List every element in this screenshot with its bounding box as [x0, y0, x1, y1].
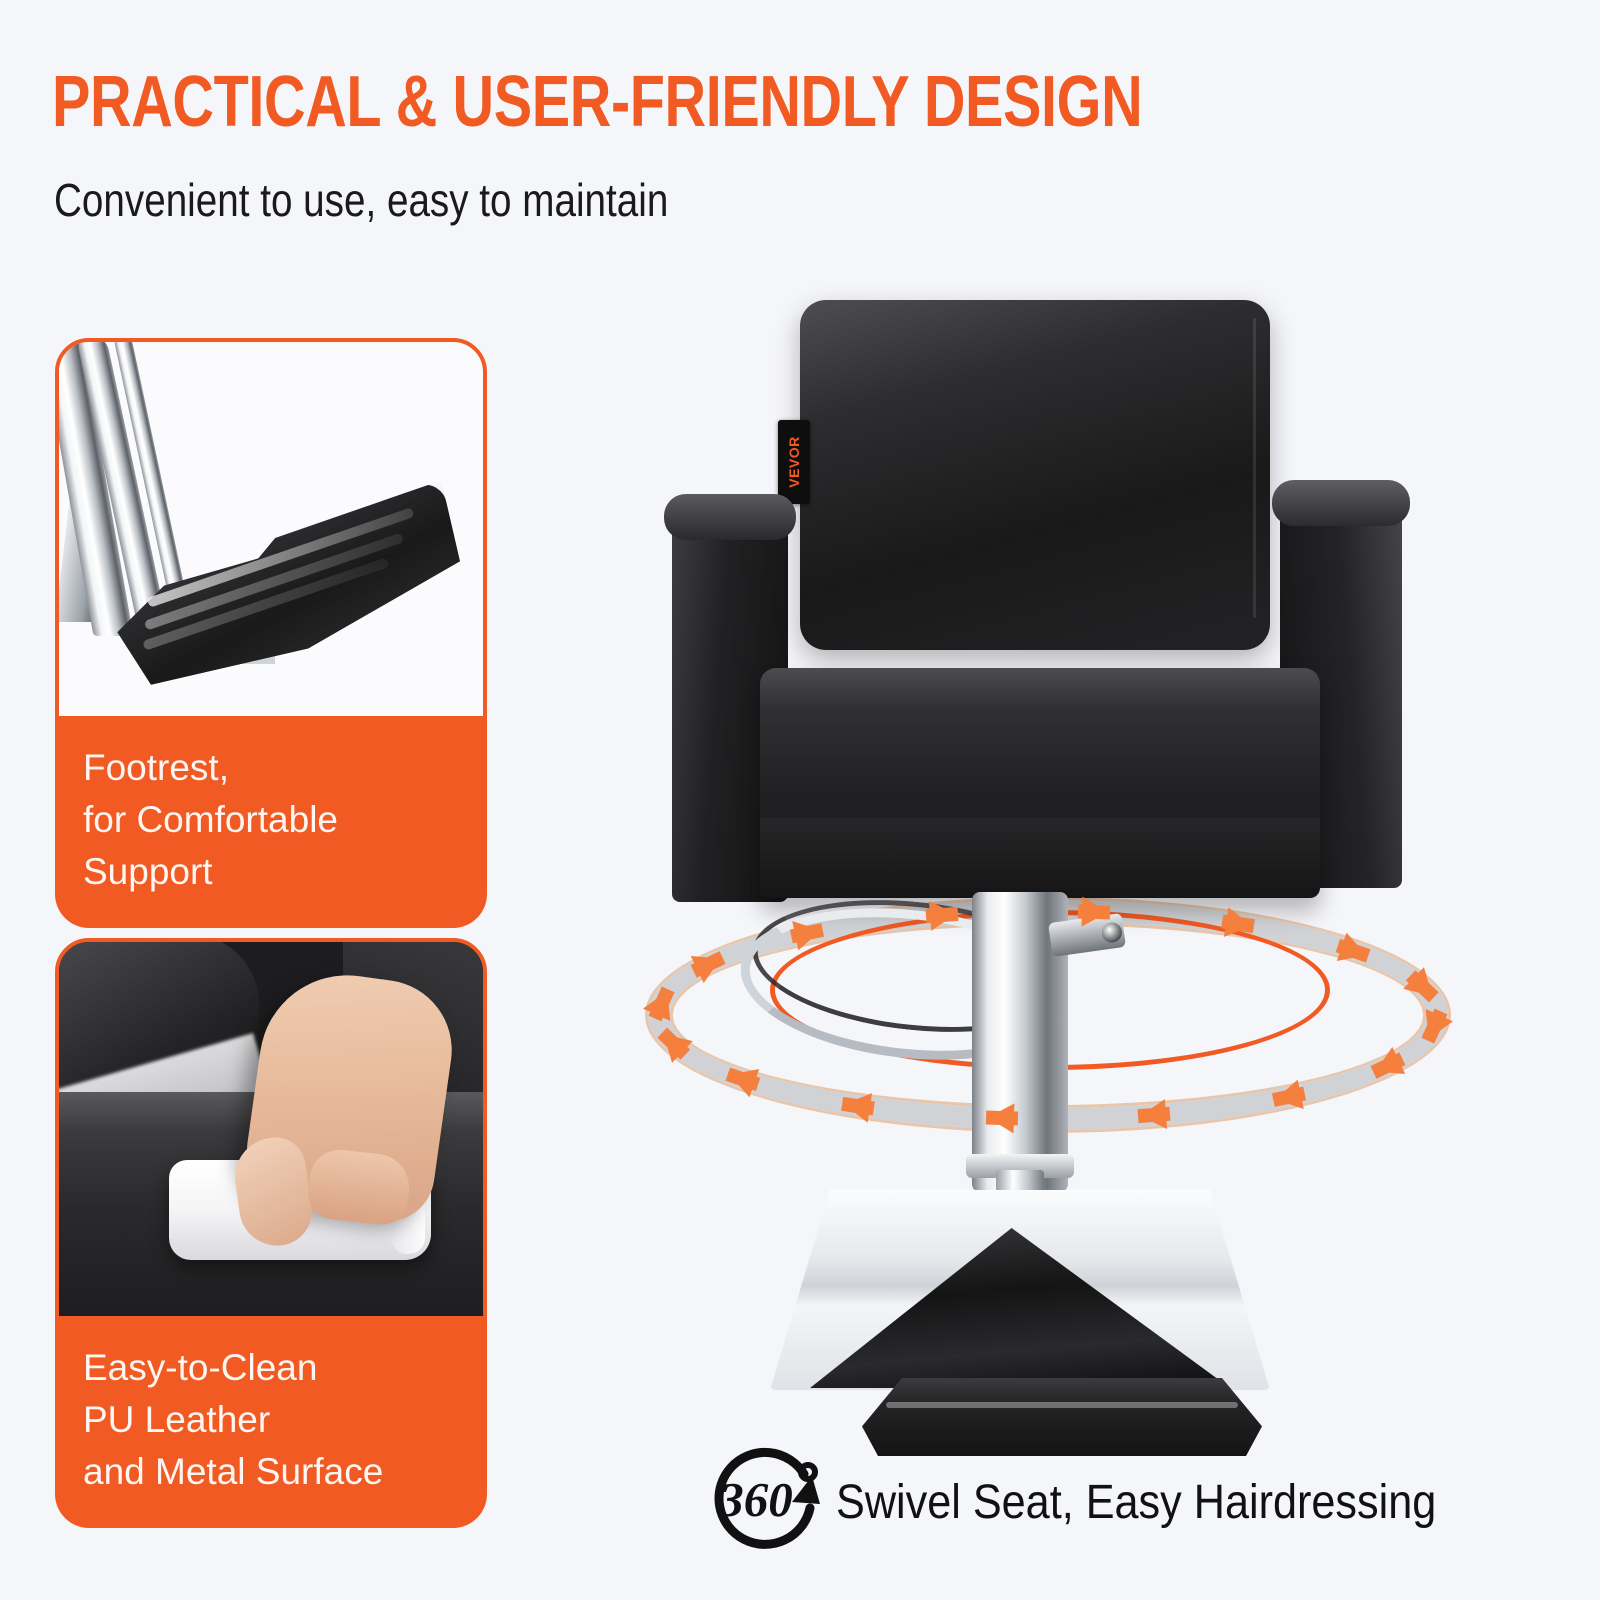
product-feature-graphic: PRACTICAL & USER-FRIENDLY DESIGN Conveni… [0, 0, 1600, 1600]
vevor-brand-label: VEVOR [786, 436, 802, 488]
easy-clean-photo [55, 938, 487, 1320]
feature-caption-footrest: Footrest, for Comfortable Support [55, 720, 487, 928]
swivel-arrow [792, 916, 824, 951]
footrest-photo [55, 338, 487, 720]
swivel-arrow [988, 1103, 1015, 1134]
page-subheadline: Convenient to use, easy to maintain [54, 172, 668, 228]
swivel-arrow [1224, 908, 1254, 942]
swivel-arrow [842, 1089, 872, 1123]
swivel-arrow [1081, 896, 1108, 927]
feature-card-easy-clean: Easy-to-Clean PU Leather and Metal Surfa… [55, 938, 487, 1528]
chair-left-arm-top [664, 494, 796, 540]
vevor-brand-tag: VEVOR [778, 420, 810, 504]
product-photo-salon-chair: VEVOR [620, 270, 1480, 1450]
chair-backrest: VEVOR [800, 300, 1270, 650]
chair-right-arm-top [1272, 480, 1410, 526]
rotate-360-arrow-icon: 360 [700, 1438, 828, 1566]
feature-card-footrest: Footrest, for Comfortable Support [55, 338, 487, 928]
swivel-arrow [1139, 1099, 1167, 1131]
swivel-badge-text: Swivel Seat, Easy Hairdressing [836, 1475, 1436, 1530]
swivel-badge-row: 360 Swivel Seat, Easy Hairdressing [700, 1438, 1503, 1566]
chair-seat-cushion [760, 668, 1320, 898]
feature-caption-easy-clean: Easy-to-Clean PU Leather and Metal Surfa… [55, 1320, 487, 1528]
page-headline: PRACTICAL & USER-FRIENDLY DESIGN [52, 62, 1142, 142]
svg-text:360: 360 [718, 1472, 793, 1527]
swivel-arrow [929, 899, 957, 931]
